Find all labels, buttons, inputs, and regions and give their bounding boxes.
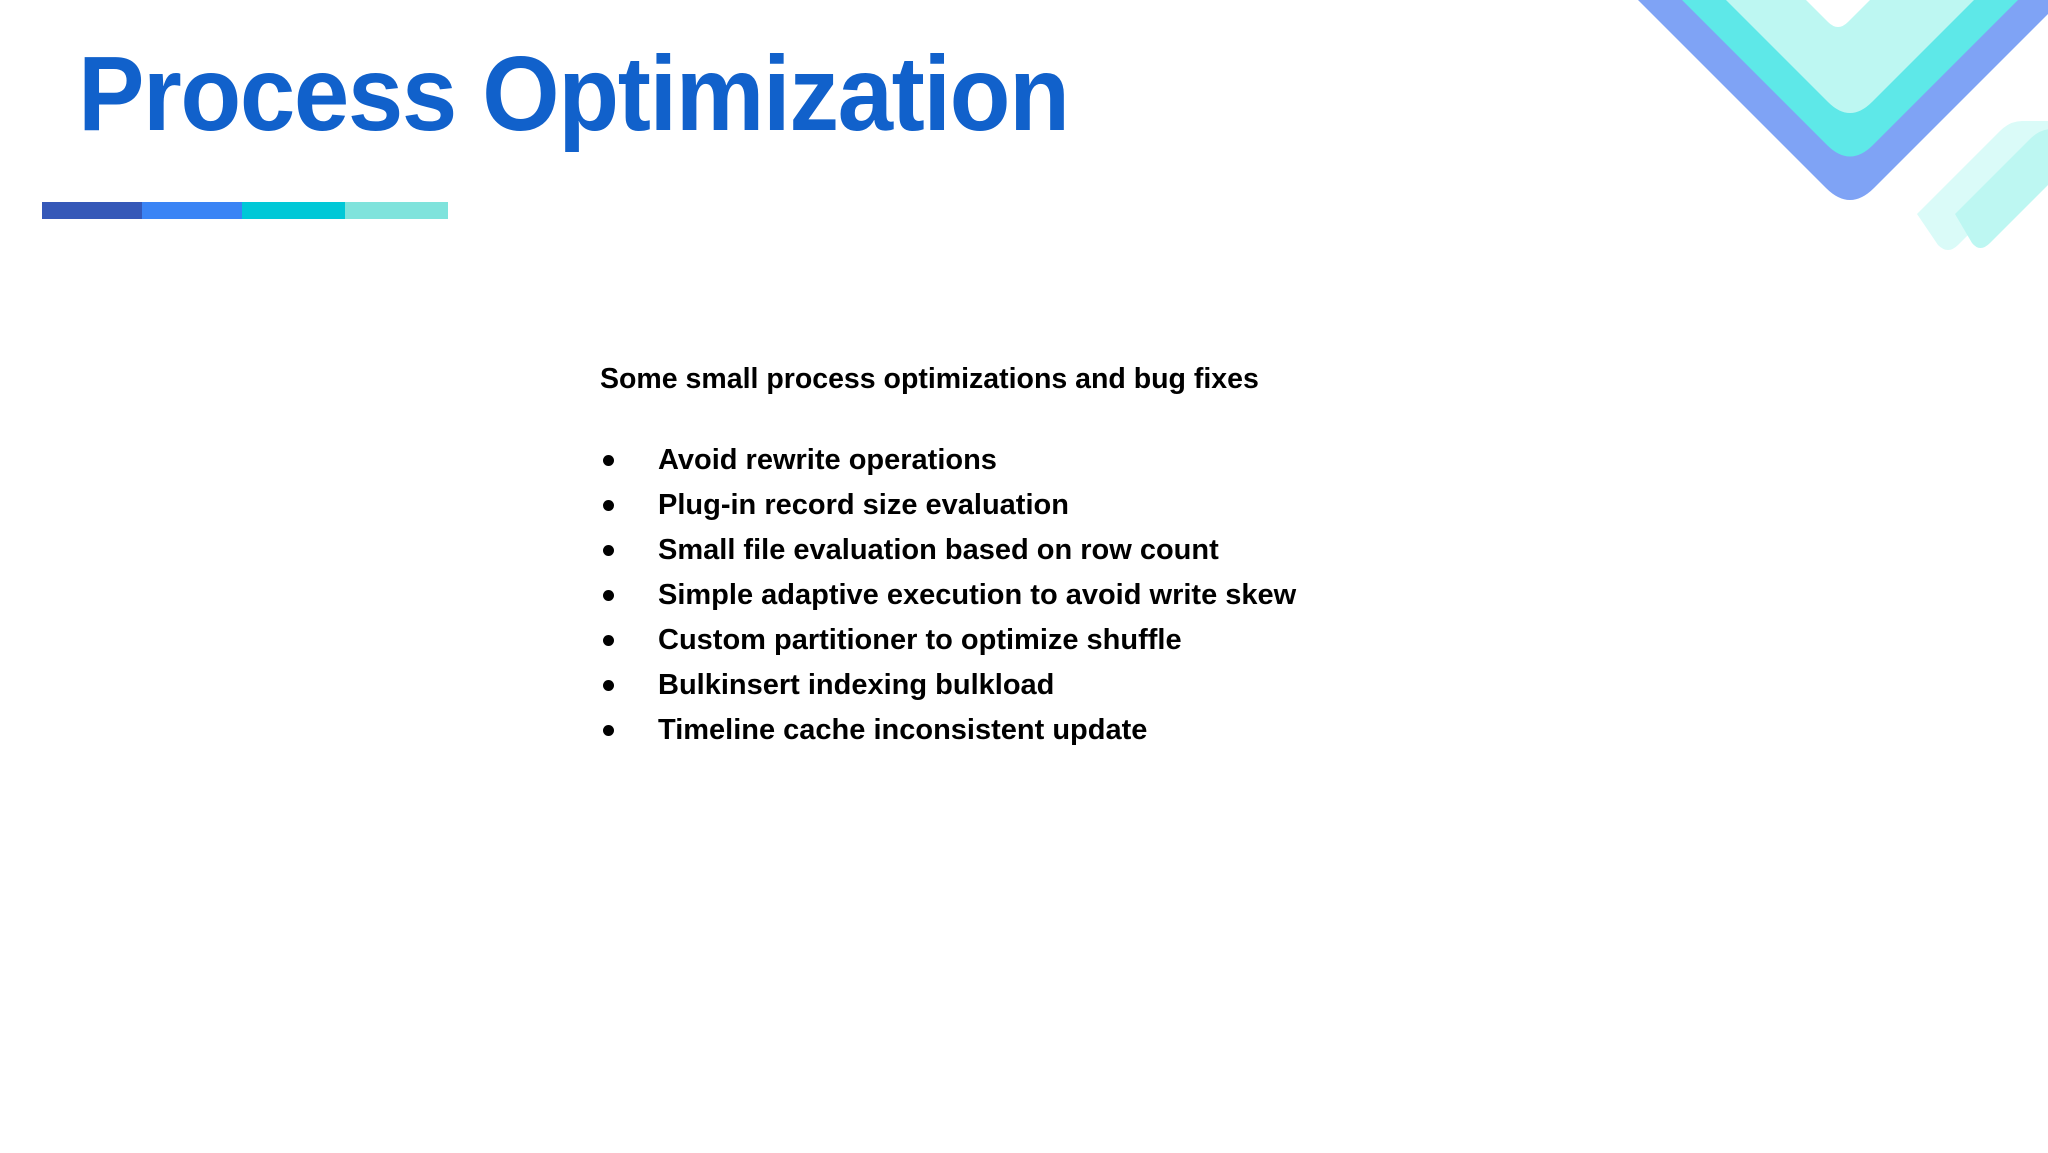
slide-canvas: Process Optimization Some small process … [0, 0, 2048, 1153]
outer-periwinkle-chevron-icon [1628, 0, 2048, 200]
bullet-dot-icon [603, 635, 614, 646]
inner-mint-chevron-icon [1694, 0, 1992, 113]
list-item-label: Plug-in record size evaluation [658, 489, 1069, 521]
accent-segment-aqua [345, 202, 448, 219]
list-item-label: Timeline cache inconsistent update [658, 714, 1147, 746]
list-item: Small file evaluation based on row count [600, 528, 1600, 573]
list-item: Plug-in record size evaluation [600, 483, 1600, 528]
bullet-dot-icon [603, 725, 614, 736]
secondary-pale-chevron-icon [1917, 121, 2048, 300]
content-block: Some small process optimizations and bug… [600, 362, 1600, 753]
bullet-dot-icon [603, 500, 614, 511]
list-item: Avoid rewrite operations [600, 438, 1600, 483]
bullet-list: Avoid rewrite operations Plug-in record … [600, 438, 1600, 753]
list-item-label: Bulkinsert indexing bulkload [658, 669, 1054, 701]
bullet-dot-icon [603, 545, 614, 556]
nested-chevron-graphic [1628, 0, 2048, 300]
list-item-label: Custom partitioner to optimize shuffle [658, 624, 1182, 656]
bullet-dot-icon [603, 680, 614, 691]
secondary-mint-chevron-icon [1955, 129, 2048, 248]
list-item: Bulkinsert indexing bulkload [600, 663, 1600, 708]
list-item: Simple adaptive execution to avoid write… [600, 573, 1600, 618]
accent-segment-royal-blue [42, 202, 142, 219]
list-item-label: Small file evaluation based on row count [658, 534, 1219, 566]
list-item-label: Simple adaptive execution to avoid write… [658, 579, 1296, 611]
list-item: Timeline cache inconsistent update [600, 708, 1600, 753]
list-item-label: Avoid rewrite operations [658, 444, 997, 476]
accent-segment-cyan [242, 202, 345, 219]
bullet-dot-icon [603, 590, 614, 601]
page-title: Process Optimization [78, 40, 1206, 148]
list-item: Custom partitioner to optimize shuffle [600, 618, 1600, 663]
title-block: Process Optimization [78, 40, 1278, 148]
accent-segment-bright-blue [142, 202, 242, 219]
middle-turquoise-chevron-icon [1650, 0, 2036, 157]
bullet-dot-icon [603, 455, 614, 466]
content-heading: Some small process optimizations and bug… [600, 362, 1600, 396]
accent-bar [42, 202, 448, 219]
